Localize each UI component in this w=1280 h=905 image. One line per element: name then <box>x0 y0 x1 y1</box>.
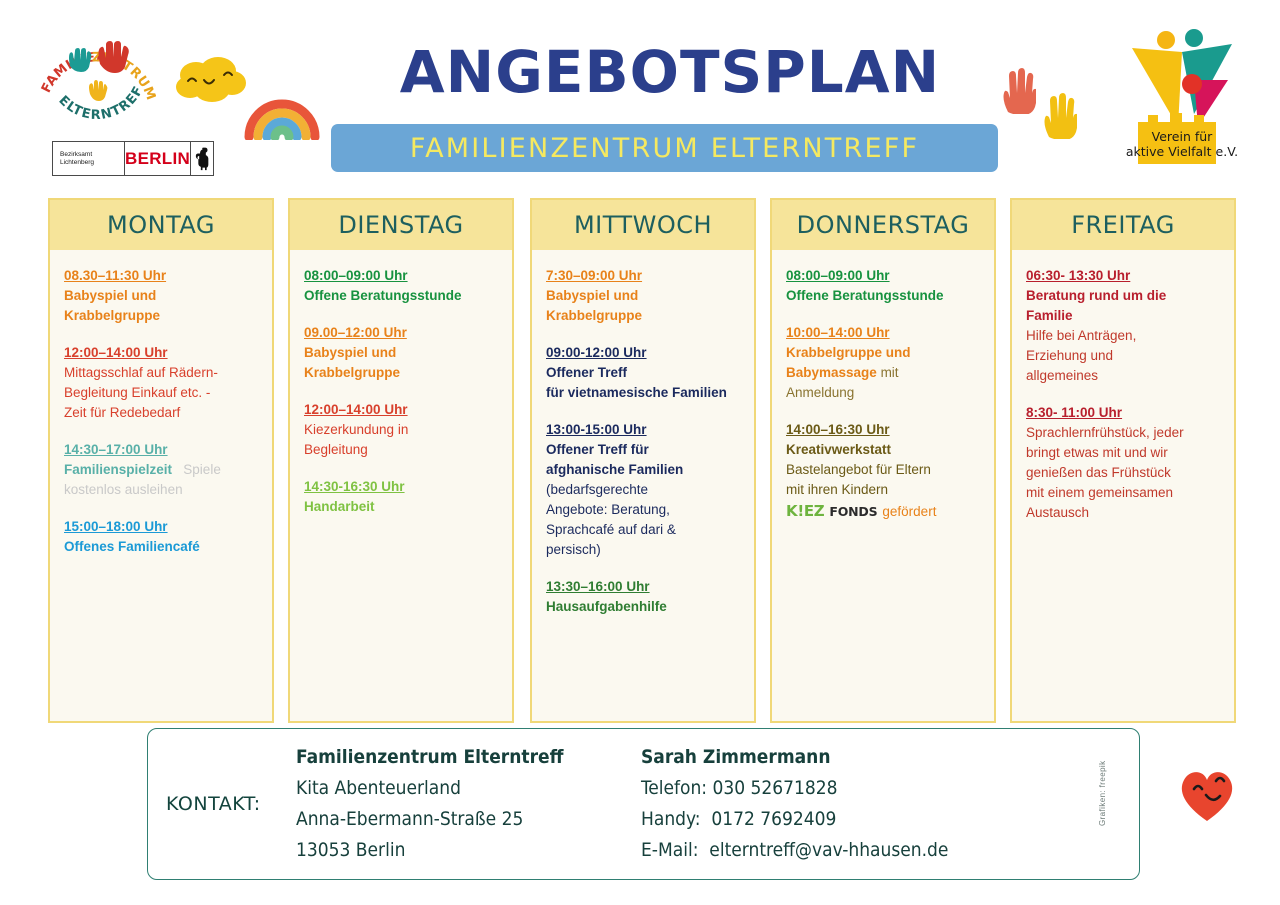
entry-time: 08.30–11:30 Uhr <box>64 266 260 285</box>
kiezfonds-k3: gefördert <box>882 504 936 519</box>
contact-org-column: Familienzentrum ElterntreffKita Abenteue… <box>296 742 641 866</box>
svg-text:aktive Vielfalt e.V.: aktive Vielfalt e.V. <box>1126 144 1238 159</box>
day-entries: 08:00–09:00 UhrOffene Beratungsstunde10:… <box>772 250 994 721</box>
entry-time: 06:30- 13:30 Uhr <box>1026 266 1222 285</box>
entry-time: 08:00–09:00 Uhr <box>304 266 500 285</box>
schedule-entry: 08:00–09:00 UhrOffene Beratungsstunde <box>304 266 500 306</box>
day-name: DONNERSTAG <box>797 211 970 239</box>
entry-title: Offener Treff für vietnamesische Familie… <box>546 365 727 400</box>
heart-icon <box>1176 765 1238 825</box>
berlin-district-logo: Bezirksamt Lichtenberg BERLIN <box>52 141 214 176</box>
day-header: DONNERSTAG <box>772 200 994 250</box>
entry-inline-note: Spiele <box>172 462 221 477</box>
schedule-entry: 10:00–14:00 UhrKrabbelgruppe und Babymas… <box>786 323 982 403</box>
entry-description: kostenlos ausleihen <box>64 480 260 500</box>
day-name: MONTAG <box>107 211 215 239</box>
day-header: MONTAG <box>50 200 272 250</box>
entry-title: Babyspiel und Krabbelgruppe <box>64 288 160 323</box>
subtitle-text: FAMILIENZENTRUM ELTERNTREFF <box>410 133 919 164</box>
hand-icon-red <box>1000 66 1036 114</box>
day-column-donnerstag: DONNERSTAG08:00–09:00 UhrOffene Beratung… <box>770 198 996 723</box>
berlin-district-label: Bezirksamt Lichtenberg <box>60 151 124 167</box>
kiezfonds-k1: K!EZ <box>786 502 824 520</box>
contact-box: KONTAKT: Familienzentrum ElterntreffKita… <box>147 728 1140 880</box>
schedule-entry: 06:30- 13:30 UhrBeratung rund um die Fam… <box>1026 266 1222 386</box>
entry-description: Anmeldung <box>786 383 982 403</box>
entry-description: Sprachlernfrühstück, jeder bringt etwas … <box>1026 423 1222 523</box>
entry-time: 08:00–09:00 Uhr <box>786 266 982 285</box>
contact-line: Sarah Zimmermann <box>641 742 1139 773</box>
entry-title: Babyspiel und Krabbelgruppe <box>304 345 400 380</box>
rainbow-icon <box>243 85 321 140</box>
entry-description: (bedarfsgerechte Angebote: Beratung, Spr… <box>546 480 742 560</box>
kiezfonds-badge: K!EZFONDSgefördert <box>786 502 982 520</box>
entry-title: Offene Beratungsstunde <box>304 288 462 303</box>
schedule-entry: 12:00–14:00 UhrKiezerkundung in Begleitu… <box>304 400 500 460</box>
poster-root: FAMILIEN ZENTRUM ELTERNTREFF <box>0 0 1280 905</box>
entry-time: 13:00-15:00 Uhr <box>546 420 742 439</box>
schedule-entry: 15:00–18:00 UhrOffenes Familiencafé <box>64 517 260 557</box>
entry-time: 09.00–12:00 Uhr <box>304 323 500 342</box>
schedule-entry: 12:00–14:00 UhrMittagsschlaf auf Rädern-… <box>64 343 260 423</box>
entry-title: Kreativwerkstatt <box>786 442 891 457</box>
entry-title: Handarbeit <box>304 499 375 514</box>
day-name: FREITAG <box>1071 211 1175 239</box>
schedule-entry: 14:00–16:30 UhrKreativwerkstattBastelang… <box>786 420 982 520</box>
verein-aktive-vielfalt-logo: Verein für aktive Vielfalt e.V. <box>1120 22 1248 167</box>
entry-time: 8:30- 11:00 Uhr <box>1026 403 1222 422</box>
contact-label: KONTAKT: <box>148 793 296 815</box>
entry-time: 15:00–18:00 Uhr <box>64 517 260 536</box>
entry-title: Babyspiel und Krabbelgruppe <box>546 288 642 323</box>
entry-inline-note: mit <box>877 365 899 380</box>
schedule-entry: 09:00-12:00 UhrOffener Treff für vietnam… <box>546 343 742 403</box>
schedule-entry: 09.00–12:00 UhrBabyspiel und Krabbelgrup… <box>304 323 500 383</box>
entry-time: 7:30–09:00 Uhr <box>546 266 742 285</box>
kiezfonds-k2: FONDS <box>829 504 877 519</box>
entry-title: Hausaufgabenhilfe <box>546 599 667 614</box>
day-column-dienstag: DIENSTAG08:00–09:00 UhrOffene Beratungss… <box>288 198 514 723</box>
entry-title: Beratung rund um die Familie <box>1026 288 1166 323</box>
entry-time: 14:00–16:30 Uhr <box>786 420 982 439</box>
contact-line: 13053 Berlin <box>296 835 641 866</box>
entry-time: 12:00–14:00 Uhr <box>64 343 260 362</box>
entry-time: 10:00–14:00 Uhr <box>786 323 982 342</box>
day-header: DIENSTAG <box>290 200 512 250</box>
schedule-entry: 7:30–09:00 UhrBabyspiel und Krabbelgrupp… <box>546 266 742 326</box>
entry-title: Offene Beratungsstunde <box>786 288 944 303</box>
day-entries: 08:00–09:00 UhrOffene Beratungsstunde09.… <box>290 250 512 721</box>
berlin-city-label: BERLIN <box>125 149 190 169</box>
entry-time: 09:00-12:00 Uhr <box>546 343 742 362</box>
schedule-entry: 13:30–16:00 UhrHausaufgabenhilfe <box>546 577 742 617</box>
day-entries: 7:30–09:00 UhrBabyspiel und Krabbelgrupp… <box>532 250 754 721</box>
contact-person-column: Sarah ZimmermannTelefon: 030 52671828Han… <box>641 742 1139 866</box>
entry-time: 14:30-16:30 Uhr <box>304 477 500 496</box>
berlin-city-text: BERLIN <box>125 142 191 175</box>
entry-time: 13:30–16:00 Uhr <box>546 577 742 596</box>
entry-title: Offener Treff für afghanische Familien <box>546 442 683 477</box>
familienzentrum-logo: FAMILIEN ZENTRUM ELTERNTREFF <box>38 24 156 129</box>
contact-line: Kita Abenteuerland <box>296 773 641 804</box>
contact-line: Anna-Ebermann-Straße 25 <box>296 804 641 835</box>
contact-line: Handy: 0172 7692409 <box>641 804 1139 835</box>
weekly-schedule: MONTAG08.30–11:30 UhrBabyspiel und Krabb… <box>0 198 1280 726</box>
hand-icon-yellow <box>1041 91 1077 139</box>
entry-time: 12:00–14:00 Uhr <box>304 400 500 419</box>
entry-title: Familienspielzeit <box>64 462 172 477</box>
page-title: ANGEBOTSPLAN <box>330 40 1010 104</box>
schedule-entry: 14:30-16:30 UhrHandarbeit <box>304 477 500 517</box>
berlin-bear-icon <box>191 142 213 175</box>
day-column-freitag: FREITAG06:30- 13:30 UhrBeratung rund um … <box>1010 198 1236 723</box>
day-name: MITTWOCH <box>574 211 712 239</box>
schedule-entry: 08:00–09:00 UhrOffene Beratungsstunde <box>786 266 982 306</box>
schedule-entry: 13:00-15:00 UhrOffener Treff für afghani… <box>546 420 742 560</box>
day-entries: 08.30–11:30 UhrBabyspiel und Krabbelgrup… <box>50 250 272 721</box>
contact-line: E-Mail: elterntreff@vav-hhausen.de <box>641 835 1139 866</box>
entry-time: 14:30–17:00 Uhr <box>64 440 260 459</box>
schedule-entry: 8:30- 11:00 UhrSprachlernfrühstück, jede… <box>1026 403 1222 523</box>
day-name: DIENSTAG <box>338 211 463 239</box>
day-header: MITTWOCH <box>532 200 754 250</box>
entry-description: Mittagsschlaf auf Rädern- Begleitung Ein… <box>64 363 260 423</box>
day-column-montag: MONTAG08.30–11:30 UhrBabyspiel und Krabb… <box>48 198 274 723</box>
day-column-mittwoch: MITTWOCH7:30–09:00 UhrBabyspiel und Krab… <box>530 198 756 723</box>
entry-title: Offenes Familiencafé <box>64 539 200 554</box>
schedule-entry: 08.30–11:30 UhrBabyspiel und Krabbelgrup… <box>64 266 260 326</box>
entry-description: Hilfe bei Anträgen, Erziehung und allgem… <box>1026 326 1222 386</box>
berlin-district-text: Bezirksamt Lichtenberg <box>53 142 125 175</box>
contact-line: Familienzentrum Elterntreff <box>296 742 641 773</box>
entry-description: Kiezerkundung in Begleitung <box>304 420 500 460</box>
day-entries: 06:30- 13:30 UhrBeratung rund um die Fam… <box>1012 250 1234 721</box>
schedule-entry: 14:30–17:00 UhrFamilienspielzeit Spielek… <box>64 440 260 500</box>
subtitle-banner: FAMILIENZENTRUM ELTERNTREFF <box>331 124 998 172</box>
svg-text:Verein für: Verein für <box>1152 129 1214 144</box>
graphics-credit: Grafiken: freepik <box>1098 726 1116 826</box>
poster-header: FAMILIEN ZENTRUM ELTERNTREFF <box>0 0 1280 190</box>
contact-line: Telefon: 030 52671828 <box>641 773 1139 804</box>
cloud-icon <box>172 55 250 110</box>
day-header: FREITAG <box>1012 200 1234 250</box>
entry-description: Bastelangebot für Eltern mit ihren Kinde… <box>786 460 982 500</box>
